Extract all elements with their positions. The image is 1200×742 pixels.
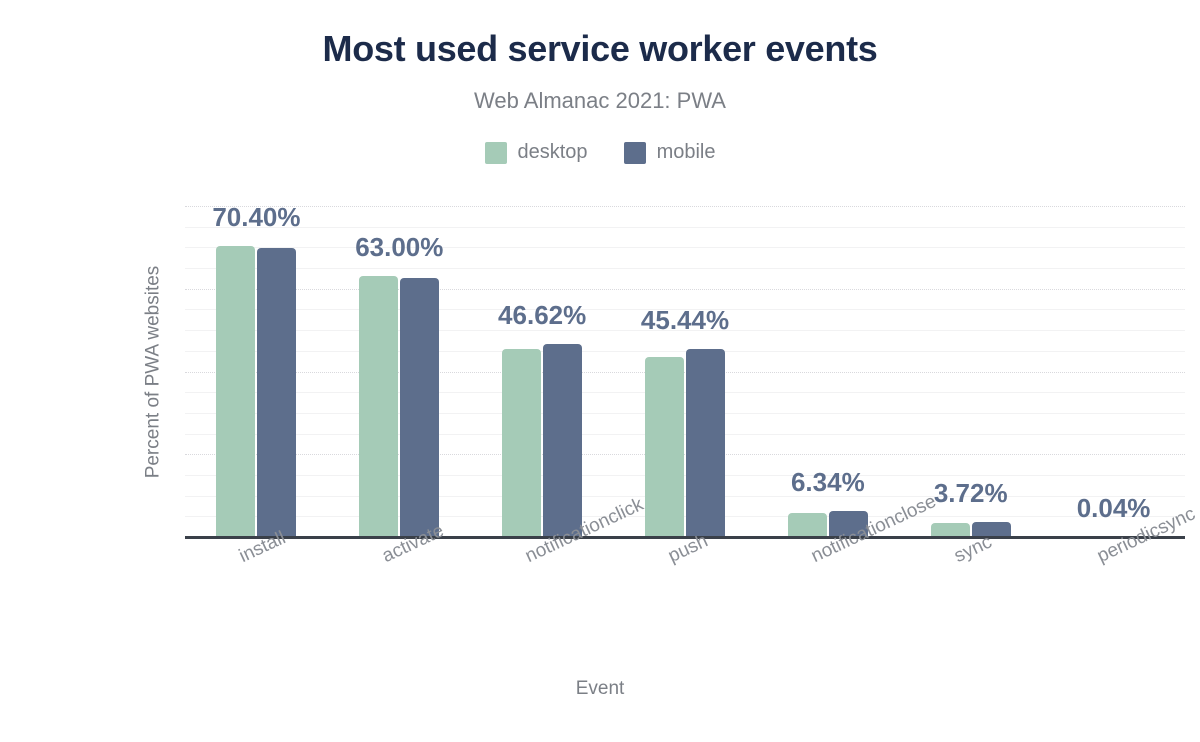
chart-title: Most used service worker events	[0, 28, 1200, 70]
gridline-minor	[185, 268, 1185, 269]
gridline-major	[185, 206, 1185, 207]
legend-swatch-mobile	[624, 142, 646, 164]
gridline-major	[185, 372, 1185, 373]
gridline-major	[185, 454, 1185, 455]
legend-label-desktop: desktop	[518, 141, 588, 164]
gridline-minor	[185, 351, 1185, 352]
gridline-minor	[185, 434, 1185, 435]
y-axis-title: Percent of PWA websites	[142, 265, 164, 478]
gridline-major	[185, 289, 1185, 290]
bar-desktop-install[interactable]	[216, 246, 255, 537]
gridline-minor	[185, 392, 1185, 393]
data-label-activate: 63.00%	[355, 232, 443, 263]
data-label-notificationclose: 6.34%	[791, 467, 865, 498]
x-axis-title: Event	[0, 678, 1200, 700]
bar-desktop-activate[interactable]	[359, 276, 398, 537]
bar-mobile-notificationclick[interactable]	[543, 344, 582, 537]
gridline-minor	[185, 227, 1185, 228]
bar-desktop-notificationclick[interactable]	[502, 349, 541, 537]
gridline-minor	[185, 413, 1185, 414]
data-label-periodicsync: 0.04%	[1077, 493, 1151, 524]
bar-desktop-sync[interactable]	[931, 523, 970, 537]
legend-swatch-desktop	[485, 142, 507, 164]
bar-mobile-install[interactable]	[257, 248, 296, 537]
bar-desktop-notificationclose[interactable]	[788, 513, 827, 537]
legend-label-mobile: mobile	[657, 141, 716, 164]
gridline-minor	[185, 516, 1185, 517]
gridline-minor	[185, 496, 1185, 497]
plot-area: 0.00%20.00%40.00%60.00%80.00% Percent of…	[185, 206, 1185, 537]
bar-mobile-push[interactable]	[686, 349, 725, 537]
data-label-sync: 3.72%	[934, 478, 1008, 509]
chart-container: Most used service worker events Web Alma…	[0, 0, 1200, 742]
chart-subtitle: Web Almanac 2021: PWA	[0, 88, 1200, 114]
legend-item-desktop[interactable]: desktop	[485, 141, 588, 164]
gridline-minor	[185, 475, 1185, 476]
data-label-push: 45.44%	[641, 305, 729, 336]
chart-legend: desktopmobile	[0, 141, 1200, 164]
legend-item-mobile[interactable]: mobile	[624, 141, 716, 164]
bar-mobile-activate[interactable]	[400, 278, 439, 537]
data-label-notificationclick: 46.62%	[498, 300, 586, 331]
bar-desktop-push[interactable]	[645, 357, 684, 537]
data-label-install: 70.40%	[212, 202, 300, 233]
gridline-minor	[185, 247, 1185, 248]
